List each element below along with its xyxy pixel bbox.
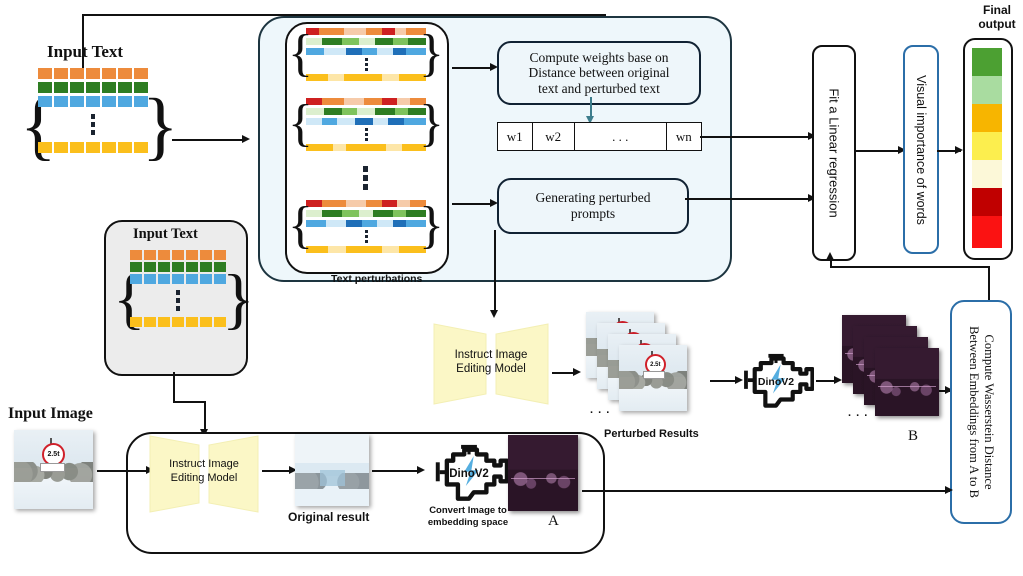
perturbation-segment xyxy=(322,38,342,45)
perturbation-segment xyxy=(382,246,400,253)
token-row xyxy=(130,274,226,284)
perturbation-segment xyxy=(333,144,346,151)
token-cell xyxy=(200,317,212,327)
perturbation-segment xyxy=(355,118,373,125)
token-cell xyxy=(38,96,52,107)
connector-table-to-regression xyxy=(700,136,812,138)
perturbation-segment xyxy=(346,200,366,207)
token-cell xyxy=(134,96,148,107)
instruct-model-original-line-1: Instruct Image xyxy=(148,458,260,472)
connector-prompts-to-regression xyxy=(685,198,812,200)
connector-inputtext-to-perturb xyxy=(172,139,244,141)
perturbation-row xyxy=(306,38,426,45)
text-perturbations-label: Text perturbations xyxy=(331,273,422,285)
compute-weights-box[interactable]: Compute weights base on Distance between… xyxy=(497,41,701,105)
input-text-token-grid-mid xyxy=(130,250,226,329)
instruct-editing-model-original[interactable]: Instruct Image Editing Model xyxy=(148,434,260,514)
perturbation-segment xyxy=(397,200,410,207)
arrowhead-final-output xyxy=(955,146,963,154)
token-cell xyxy=(38,142,52,153)
embeddings-b-stack: . . . xyxy=(842,315,948,427)
perturbation-row xyxy=(306,246,426,253)
input-text-top-group: { } xyxy=(20,62,155,197)
generating-prompts-line-1: Generating perturbed xyxy=(535,190,650,206)
embedding-a-thumbnail xyxy=(508,435,578,511)
perturbation-segment xyxy=(362,48,378,55)
input-image-label: Input Image xyxy=(8,405,93,423)
perturbation-segment xyxy=(366,200,382,207)
input-text-token-grid-top xyxy=(38,68,148,156)
convert-embedding-line-2: embedding space xyxy=(413,517,523,529)
perturbation-segment xyxy=(382,28,395,35)
speed-limit-value: 2.5t xyxy=(47,451,59,458)
wasserstein-box[interactable]: Compute Wasserstein Distance Between Emb… xyxy=(950,300,1012,524)
token-cell xyxy=(130,262,142,272)
perturbation-row xyxy=(306,220,426,227)
token-cell xyxy=(86,68,100,79)
token-cell xyxy=(214,274,226,284)
token-cell xyxy=(144,317,156,327)
input-text-mid-group: { } xyxy=(110,246,238,366)
weight-cell: wn xyxy=(667,123,701,150)
perturbation-segment xyxy=(346,220,362,227)
token-cell xyxy=(54,68,68,79)
perturbed-stack-ellipsis: . . . xyxy=(590,404,610,416)
connector-pert-to-weights xyxy=(452,67,492,69)
visual-importance-box[interactable]: Visual importance of words xyxy=(903,45,939,254)
perturbation-segment xyxy=(326,220,346,227)
token-cell xyxy=(134,68,148,79)
token-cell xyxy=(186,317,198,327)
compute-weights-line-2: Distance between original xyxy=(529,65,670,81)
token-cell xyxy=(102,96,116,107)
token-cell xyxy=(70,142,84,153)
final-output-band-bright-red xyxy=(972,216,1002,248)
diagram-canvas: Input Text { } {}{}{} Text perturbations… xyxy=(0,0,1023,576)
token-cell xyxy=(130,250,142,260)
final-output-band-dark-red xyxy=(972,188,1002,216)
perturbation-segment xyxy=(395,108,408,115)
arrowhead-wasserstein-2 xyxy=(945,486,953,494)
ellipsis-dot xyxy=(363,184,368,190)
connector-gray-right xyxy=(173,401,205,403)
brace-right: } xyxy=(419,98,444,150)
original-result-thumbnail xyxy=(295,434,369,506)
perturbation-row xyxy=(306,48,426,55)
token-cell xyxy=(38,68,52,79)
perturbation-segment xyxy=(373,118,389,125)
ellipsis-dot xyxy=(365,68,368,71)
token-cell xyxy=(134,82,148,93)
token-row xyxy=(130,262,226,272)
perturbation-segment xyxy=(388,118,404,125)
ellipsis-dot xyxy=(176,290,180,295)
compute-weights-line-3: text and perturbed text xyxy=(529,81,670,97)
token-cell xyxy=(172,262,184,272)
ellipsis-dots xyxy=(130,290,226,311)
token-cell xyxy=(118,68,132,79)
final-output-color-bands xyxy=(972,48,1002,248)
ellipsis-dot xyxy=(365,230,368,233)
token-row xyxy=(130,250,226,260)
perturbation-ellipsis xyxy=(290,166,440,190)
ellipsis-dots xyxy=(38,114,148,135)
token-cell xyxy=(200,250,212,260)
token-cell xyxy=(158,250,170,260)
arrowhead-regression-feedback xyxy=(826,252,834,260)
row-ellipsis xyxy=(306,58,426,71)
perturbation-row xyxy=(306,98,426,105)
perturbation-row xyxy=(306,108,426,115)
token-cell xyxy=(130,317,142,327)
final-output-band-pale-cream xyxy=(972,160,1002,188)
weight-cell: w1 xyxy=(498,123,533,150)
perturbation-segment xyxy=(375,108,395,115)
token-cell xyxy=(134,142,148,153)
token-row xyxy=(38,96,148,107)
token-cell xyxy=(172,317,184,327)
ellipsis-dot xyxy=(365,235,368,238)
embedding-a-label: A xyxy=(548,513,559,530)
connector-pert-to-prompts xyxy=(452,203,492,205)
final-output-title: Final output xyxy=(971,4,1023,32)
perturbation-segment xyxy=(344,98,364,105)
token-cell xyxy=(186,250,198,260)
final-output-band-amber xyxy=(972,104,1002,132)
fit-linear-regression-box[interactable]: Fit a Linear regression xyxy=(812,45,856,261)
connector-perturbed-to-dino xyxy=(710,380,738,382)
embedding-stack-ellipsis: . . . xyxy=(848,407,868,419)
perturbation-segment xyxy=(322,118,338,125)
connector-wass-up xyxy=(988,266,990,300)
token-cell xyxy=(172,274,184,284)
perturbed-results-stack: 2.5t2.5t2.5t2.5t. . . xyxy=(586,312,706,422)
token-cell xyxy=(118,96,132,107)
generating-prompts-box[interactable]: Generating perturbed prompts xyxy=(497,178,689,234)
perturbation-segment xyxy=(322,210,342,217)
perturbation-segment xyxy=(322,98,344,105)
token-cell xyxy=(158,317,170,327)
perturbation-row xyxy=(306,28,426,35)
perturbation-segment xyxy=(322,200,346,207)
perturbation-segment xyxy=(366,28,382,35)
instruct-editing-model-perturbed[interactable]: Instruct Image Editing Model xyxy=(432,322,550,406)
arrowhead-to-editing-model xyxy=(490,310,498,318)
perturbation-segment xyxy=(375,38,393,45)
perturbation-row xyxy=(306,144,426,151)
final-output-title-line-1: Final xyxy=(971,4,1023,18)
dinov2-icon-top: DinoV2 xyxy=(738,346,814,412)
ellipsis-dot xyxy=(91,130,95,135)
perturbation-segment xyxy=(393,210,406,217)
perturbation-segment xyxy=(359,38,375,45)
perturbation-segment xyxy=(382,74,400,81)
token-cell xyxy=(86,82,100,93)
token-cell xyxy=(86,96,100,107)
ellipsis-dot xyxy=(176,306,180,311)
token-row xyxy=(38,142,148,153)
perturbation-segment xyxy=(386,144,402,151)
token-cell xyxy=(214,262,226,272)
perturbation-segment xyxy=(346,144,386,151)
ellipsis-dot xyxy=(91,122,95,127)
token-cell xyxy=(70,82,84,93)
brace-left: { xyxy=(288,200,313,252)
token-cell xyxy=(200,262,212,272)
input-image-thumbnail: 2.5t xyxy=(14,430,93,509)
perturbation-segment xyxy=(393,220,406,227)
connector-original-to-dino xyxy=(372,470,420,472)
brace-left: { xyxy=(288,28,313,80)
wasserstein-line-1: Compute Wasserstein Distance xyxy=(982,335,996,490)
perturbation-segment xyxy=(393,38,409,45)
perturbation-row xyxy=(306,74,426,81)
token-cell xyxy=(130,274,142,284)
ellipsis-dot xyxy=(176,298,180,303)
perturbation-segment xyxy=(328,74,344,81)
perturbation-row xyxy=(306,118,426,125)
perturbation-segment xyxy=(328,246,346,253)
perturbation-segment xyxy=(397,98,410,105)
token-cell xyxy=(158,274,170,284)
perturbation-segment xyxy=(324,48,346,55)
token-cell xyxy=(38,82,52,93)
token-cell xyxy=(144,274,156,284)
embedding-b-thumbnail xyxy=(875,348,939,416)
token-cell xyxy=(144,250,156,260)
ellipsis-dot xyxy=(365,63,368,66)
row-ellipsis xyxy=(306,230,426,243)
connector-gray-down xyxy=(173,372,175,402)
token-cell xyxy=(102,142,116,153)
perturbation-segment xyxy=(342,210,360,217)
connector-gray-down2 xyxy=(204,401,206,431)
arrowhead-embeddings-b xyxy=(834,376,842,384)
connector-model-to-original-result xyxy=(262,470,292,472)
dinov2-label: DinoV2 xyxy=(738,376,814,388)
connector-prompts-down xyxy=(494,230,496,312)
token-cell xyxy=(54,82,68,93)
ellipsis-dot xyxy=(365,240,368,243)
perturbation-segment xyxy=(342,38,360,45)
ellipsis-dot xyxy=(365,128,368,131)
ellipsis-dot xyxy=(363,175,368,181)
token-cell xyxy=(54,142,68,153)
perturbed-results-label: Perturbed Results xyxy=(604,428,699,440)
perturbation-segment xyxy=(344,74,382,81)
brace-right: } xyxy=(419,200,444,252)
brace-left: { xyxy=(288,98,313,150)
perturbation-segment xyxy=(382,200,398,207)
arrowhead-perturbed-results xyxy=(573,368,581,376)
perturbation-segment xyxy=(362,220,378,227)
convert-embedding-line-1: Convert Image to xyxy=(413,505,523,517)
final-output-band-dark-green xyxy=(972,48,1002,76)
perturbation-segment xyxy=(357,108,375,115)
final-output-title-line-2: output xyxy=(971,18,1023,32)
token-cell xyxy=(86,142,100,153)
token-cell xyxy=(172,250,184,260)
perturbation-block: {} xyxy=(290,198,440,258)
perturbation-segment xyxy=(393,48,406,55)
token-cell xyxy=(186,262,198,272)
token-cell xyxy=(70,96,84,107)
generating-prompts-line-2: prompts xyxy=(535,206,650,222)
token-cell xyxy=(70,68,84,79)
perturbation-block: {} xyxy=(290,26,440,86)
token-row xyxy=(38,82,148,93)
final-output-band-yellow xyxy=(972,132,1002,160)
perturbation-segment xyxy=(342,108,358,115)
wasserstein-label: Compute Wasserstein Distance Between Emb… xyxy=(966,326,996,498)
token-row xyxy=(38,68,148,79)
instruct-model-perturbed-line-1: Instruct Image xyxy=(432,348,550,362)
input-text-mid-label: Input Text xyxy=(133,226,198,243)
token-cell xyxy=(118,142,132,153)
visual-importance-label: Visual importance of words xyxy=(914,75,928,225)
perturbation-row xyxy=(306,210,426,217)
perturbation-segment xyxy=(377,220,393,227)
ellipsis-dot xyxy=(363,166,368,172)
perturbation-segment xyxy=(382,98,398,105)
token-cell xyxy=(186,274,198,284)
row-ellipsis xyxy=(306,128,426,141)
brace-right-mid: } xyxy=(222,264,255,332)
token-cell xyxy=(214,250,226,260)
instruct-model-original-line-2: Editing Model xyxy=(148,472,260,486)
arrowhead-dino-bottom xyxy=(417,466,425,474)
instruct-model-original-label: Instruct Image Editing Model xyxy=(148,458,260,486)
original-result-label: Original result xyxy=(288,510,369,524)
connector-wass-across xyxy=(830,266,990,268)
perturbation-segment xyxy=(346,48,362,55)
ellipsis-dot xyxy=(365,138,368,141)
perturbations-stack: {}{}{} xyxy=(290,26,440,256)
instruct-model-perturbed-line-2: Editing Model xyxy=(432,362,550,376)
connector-regression-to-importance xyxy=(855,150,902,152)
ellipsis-dot xyxy=(365,58,368,61)
ellipsis-dot xyxy=(365,133,368,136)
perturbation-segment xyxy=(377,48,393,55)
brace-right: } xyxy=(419,28,444,80)
perturbation-segment xyxy=(337,118,355,125)
fit-linear-regression-label: Fit a Linear regression xyxy=(827,88,842,217)
perturbation-segment xyxy=(319,28,343,35)
perturbation-segment xyxy=(324,108,342,115)
dinov2-label: DinoV2 xyxy=(428,468,510,480)
connector-inputimage-to-model xyxy=(97,470,149,472)
perturbation-segment xyxy=(373,210,393,217)
compute-weights-line-1: Compute weights base on xyxy=(529,50,670,66)
weight-cell: w2 xyxy=(533,123,575,150)
perturbation-segment xyxy=(364,98,382,105)
token-cell xyxy=(54,96,68,107)
instruct-model-perturbed-label: Instruct Image Editing Model xyxy=(432,348,550,377)
input-text-top-label: Input Text xyxy=(47,42,123,62)
dinov2-icon-bottom: DinoV2 xyxy=(428,437,510,505)
token-cell xyxy=(158,262,170,272)
weights-table: w1w2. . .wn xyxy=(497,122,702,151)
arrowhead-perturb xyxy=(242,135,250,143)
token-cell xyxy=(214,317,226,327)
final-output-band-light-green xyxy=(972,76,1002,104)
perturbation-row xyxy=(306,200,426,207)
convert-embedding-caption: Convert Image to embedding space xyxy=(413,505,523,529)
token-cell xyxy=(144,262,156,272)
token-cell xyxy=(102,82,116,93)
perturbation-segment xyxy=(359,210,372,217)
embeddings-b-label: B xyxy=(908,428,918,445)
wasserstein-line-2: Between Embeddings from A to B xyxy=(967,326,981,498)
perturbation-segment xyxy=(346,246,382,253)
perturbation-block: {} xyxy=(290,96,440,156)
perturbed-result-thumbnail: 2.5t xyxy=(619,345,687,411)
connector-a-to-wasserstein xyxy=(582,490,950,492)
ellipsis-dot xyxy=(91,114,95,119)
token-cell xyxy=(102,68,116,79)
perturbation-segment xyxy=(344,28,366,35)
weight-cell: . . . xyxy=(575,123,667,150)
perturbation-segment xyxy=(395,28,406,35)
token-row xyxy=(130,317,226,327)
token-cell xyxy=(200,274,212,284)
final-output-box xyxy=(963,38,1013,260)
token-cell xyxy=(118,82,132,93)
